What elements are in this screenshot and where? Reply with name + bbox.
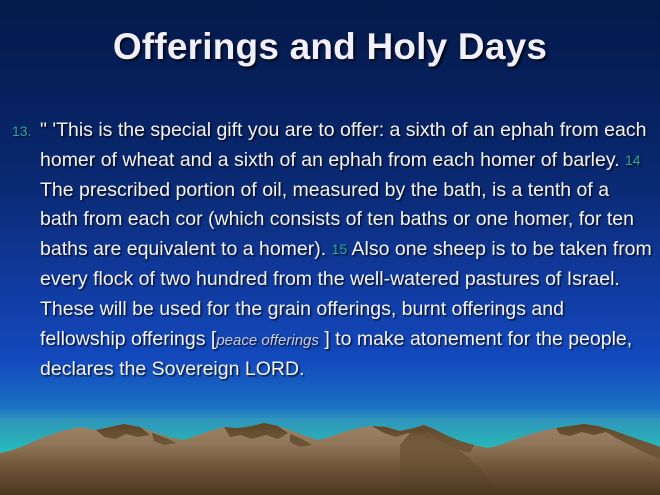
gloss-bracket-close: ] — [319, 328, 330, 350]
presentation-slide: Offerings and Holy Days 13. " 'This is t… — [0, 0, 660, 495]
scripture-paragraph: " 'This is the special gift you are to o… — [40, 116, 652, 385]
slide-title: Offerings and Holy Days — [0, 26, 660, 68]
slide-body-block: 13. " 'This is the special gift you are … — [8, 116, 652, 385]
mountain-range-graphic — [0, 415, 660, 495]
gloss-text: peace offerings — [216, 332, 319, 349]
verse-number-15: 15 — [332, 241, 348, 257]
scripture-segment-1: " 'This is the special gift you are to o… — [40, 119, 646, 171]
verse-number-14: 14 — [625, 152, 641, 168]
mountain-base-shading — [0, 423, 660, 495]
